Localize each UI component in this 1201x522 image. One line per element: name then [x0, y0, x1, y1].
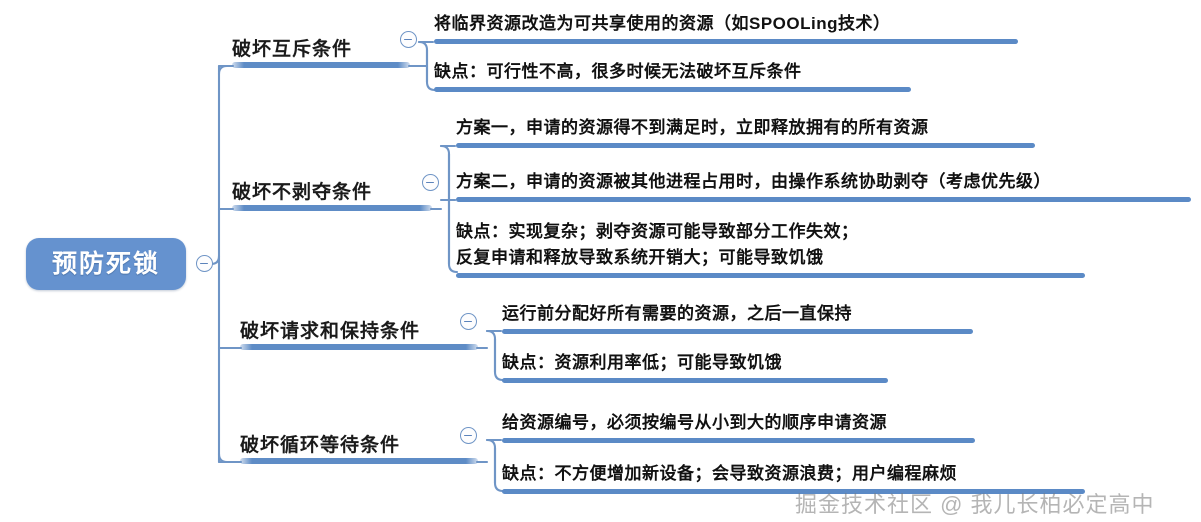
branch-node-1-underline — [232, 62, 410, 68]
collapse-toggle-branch-1[interactable] — [400, 31, 417, 48]
leaf-node-4-1-text: 给资源编号，必须按编号从小到大的顺序申请资源 — [502, 410, 887, 436]
leaf-node-1-1-text: 将临界资源改造为可共享使用的资源（如SPOOLing技术） — [434, 11, 891, 37]
leaf-node-4-2[interactable]: 缺点：不方便增加新设备；会导致资源浪费；用户编程麻烦 — [502, 458, 1085, 494]
leaf-node-2-2[interactable]: 方案二，申请的资源被其他进程占用时，由操作系统协助剥夺（考虑优先级） — [456, 166, 1191, 202]
root-node-label: 预防死锁 — [52, 252, 160, 277]
leaf-node-2-2-underline — [456, 197, 1191, 202]
branch-node-4-underline — [240, 458, 478, 464]
branch-node-2-underline — [232, 205, 432, 211]
leaf-node-2-3-underline — [456, 273, 1085, 278]
leaf-node-1-2[interactable]: 缺点：可行性不高，很多时候无法破坏互斥条件 — [434, 56, 911, 92]
leaf-node-4-2-text: 缺点：不方便增加新设备；会导致资源浪费；用户编程麻烦 — [502, 461, 957, 487]
branch-node-3[interactable]: 破坏请求和保持条件 — [240, 310, 478, 350]
leaf-node-2-1-underline — [456, 143, 1035, 148]
branch-node-3-underline — [240, 344, 478, 350]
branch-node-4[interactable]: 破坏循环等待条件 — [240, 424, 478, 464]
leaf-node-3-2[interactable]: 缺点：资源利用率低；可能导致饥饿 — [502, 347, 888, 383]
leaf-node-3-1-underline — [502, 329, 973, 334]
branch-node-4-label: 破坏循环等待条件 — [240, 436, 400, 455]
leaf-node-3-1-text: 运行前分配好所有需要的资源，之后一直保持 — [502, 301, 852, 327]
collapse-toggle-branch-3[interactable] — [460, 313, 477, 330]
collapse-toggle-branch-2[interactable] — [422, 174, 439, 191]
branch-node-1[interactable]: 破坏互斥条件 — [232, 28, 410, 68]
leaf-node-1-2-text: 缺点：可行性不高，很多时候无法破坏互斥条件 — [434, 59, 802, 85]
leaf-node-4-1-underline — [502, 438, 975, 443]
branch-node-2[interactable]: 破坏不剥夺条件 — [232, 171, 432, 211]
leaf-node-3-1[interactable]: 运行前分配好所有需要的资源，之后一直保持 — [502, 298, 973, 334]
leaf-node-2-3[interactable]: 缺点：实现复杂；剥夺资源可能导致部分工作失效； 反复申请和释放导致系统开销大；可… — [456, 216, 1085, 278]
collapse-toggle-branch-4[interactable] — [460, 427, 477, 444]
leaf-node-2-3-text: 缺点：实现复杂；剥夺资源可能导致部分工作失效； 反复申请和释放导致系统开销大；可… — [456, 219, 859, 271]
branch-node-1-label: 破坏互斥条件 — [232, 40, 352, 59]
mindmap-canvas: 预防死锁 破坏互斥条件 将临界资源改造为可共享使用的资源（如SPOOLing技术… — [0, 0, 1201, 522]
leaf-node-3-2-underline — [502, 378, 888, 383]
collapse-toggle-root[interactable] — [196, 255, 213, 272]
leaf-node-2-1-text: 方案一，申请的资源得不到满足时，立即释放拥有的所有资源 — [456, 115, 929, 141]
leaf-node-2-2-text: 方案二，申请的资源被其他进程占用时，由操作系统协助剥夺（考虑优先级） — [456, 169, 1051, 195]
leaf-node-1-1-underline — [434, 39, 1018, 44]
leaf-node-1-2-underline — [434, 87, 911, 92]
leaf-node-4-1[interactable]: 给资源编号，必须按编号从小到大的顺序申请资源 — [502, 407, 975, 443]
leaf-node-4-2-underline — [502, 489, 1085, 494]
root-node[interactable]: 预防死锁 — [26, 238, 186, 290]
leaf-node-2-1[interactable]: 方案一，申请的资源得不到满足时，立即释放拥有的所有资源 — [456, 112, 1035, 148]
branch-node-3-label: 破坏请求和保持条件 — [240, 322, 420, 341]
leaf-node-1-1[interactable]: 将临界资源改造为可共享使用的资源（如SPOOLing技术） — [434, 8, 1018, 44]
branch-node-2-label: 破坏不剥夺条件 — [232, 183, 372, 202]
leaf-node-3-2-text: 缺点：资源利用率低；可能导致饥饿 — [502, 350, 782, 376]
